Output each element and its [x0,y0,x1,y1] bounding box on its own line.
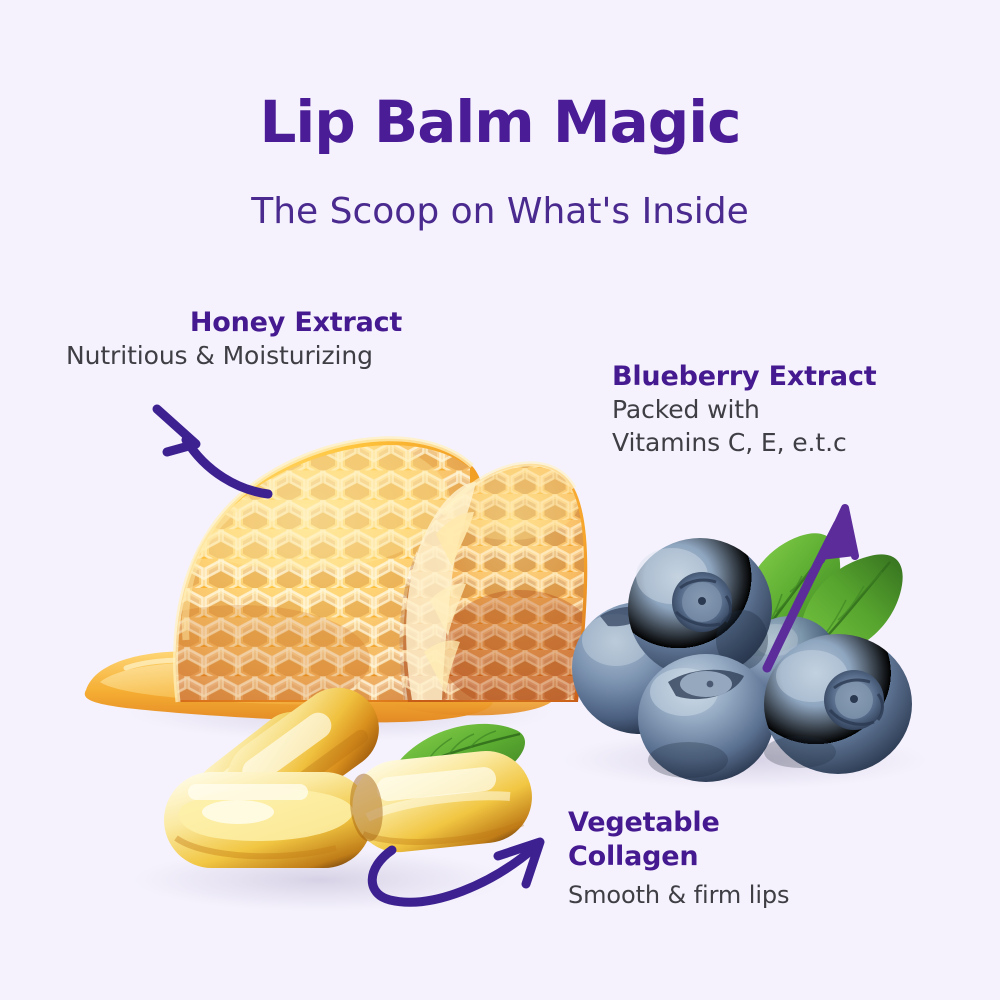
honeycomb-right [390,440,610,720]
blueberries [572,538,912,782]
callout-blueberry-desc-line-1: Packed with [612,394,992,427]
callout-honey-extract: Honey Extract Nutritious & Moisturizing [66,306,486,373]
page-subtitle: The Scoop on What's Inside [0,192,1000,232]
callout-honey-title: Honey Extract [66,306,486,340]
capsule-front-right [346,746,537,857]
gel-capsules [164,672,537,868]
capsule-back-left [180,697,345,849]
callout-blueberry-title: Blueberry Extract [612,360,992,394]
callout-honey-desc-line-1: Nutritious & Moisturizing [66,340,486,373]
page-title: Lip Balm Magic [0,92,1000,153]
blueberry-front-right [764,634,912,774]
capsule-front-left [164,772,372,868]
callout-blueberry-extract: Blueberry Extract Packed with Vitamins C… [612,360,992,459]
arrow-collagen [372,842,540,902]
capsule-top [211,672,395,837]
callout-collagen-title-line-2: Collagen [568,840,928,874]
arrow-honey [157,409,268,494]
arrow-blueberry [767,508,855,668]
callout-vegetable-collagen: Vegetable Collagen Smooth & firm lips [568,806,928,911]
callout-collagen-desc-line-1: Smooth & firm lips [568,880,928,911]
honey-drizzle [85,651,557,722]
callout-collagen-title-line-1: Vegetable [568,806,928,840]
infographic-canvas: Lip Balm Magic The Scoop on What's Insid… [0,0,1000,1000]
blueberry-front-center [638,654,774,782]
blueberry-back-right [742,616,838,704]
basil-leaf [393,724,525,790]
blueberry-leaves [741,533,903,656]
honeycomb-left [110,420,510,720]
callout-blueberry-desc-line-2: Vitamins C, E, e.t.c [612,427,992,460]
blueberry-back-left [572,602,708,734]
blueberry-top [628,538,772,678]
